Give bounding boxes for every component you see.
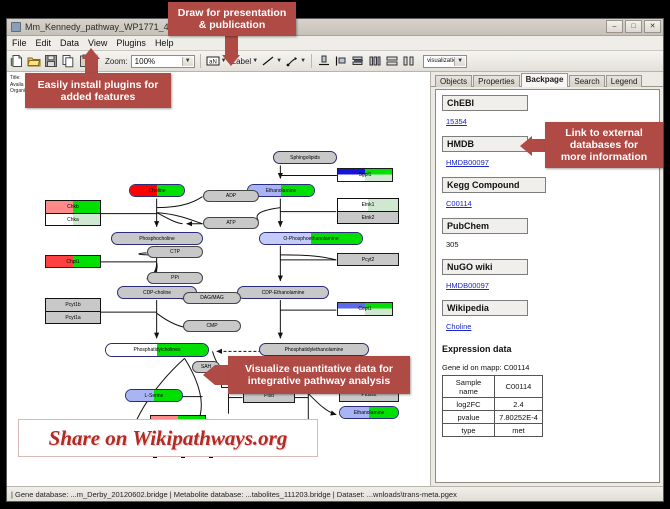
node-label: O-Phosphoethanolamine: [283, 236, 338, 242]
node-choline[interactable]: Choline: [129, 184, 185, 197]
node-ctp[interactable]: CTP: [147, 246, 203, 258]
node-label: CMP: [206, 323, 217, 329]
callout-draw-line2: & publication: [199, 19, 266, 31]
callout-links-line2: databases for: [570, 139, 638, 151]
callout-links-stem: [532, 139, 546, 152]
callout-draw-arrow: [222, 55, 240, 66]
backpage-link-nugo[interactable]: HMDB00097: [446, 281, 489, 290]
backpage-link-kegg[interactable]: C00114: [446, 199, 472, 208]
gene-label: Etnk1: [362, 202, 375, 208]
common-width-icon[interactable]: [385, 54, 399, 68]
callout-plugins-stem: [85, 58, 98, 74]
menu-item-help[interactable]: Help: [155, 38, 174, 48]
gene-box-etnk[interactable]: Etnk1 Etnk2: [337, 198, 399, 224]
node-label: Sphingolipids: [290, 155, 320, 161]
node-label: Ethanolamine: [266, 188, 297, 194]
status-bar: | Gene database: ...m_Derby_20120602.bri…: [7, 486, 663, 501]
table-row: type met: [443, 424, 543, 437]
minimize-button[interactable]: –: [606, 20, 623, 33]
align-left-icon[interactable]: [334, 54, 348, 68]
tab-objects[interactable]: Objects: [435, 75, 472, 87]
side-panel-tabs: Objects Properties Backpage Search Legen…: [431, 72, 663, 87]
node-label: Choline: [149, 188, 166, 194]
pathway-organism-label: Organi: [10, 88, 25, 95]
gene-box-cept1[interactable]: Cept1: [337, 302, 393, 316]
line-icon[interactable]: [261, 54, 275, 68]
toolbar-separator-2: [200, 54, 201, 68]
node-adp[interactable]: ADP: [203, 190, 259, 202]
callout-draw-stem: [225, 36, 238, 56]
backpage-heading-wikipedia: Wikipedia: [442, 300, 528, 316]
cell-value: 7.80252E-4: [495, 411, 543, 424]
gene-etnk2[interactable]: Etnk2: [338, 211, 398, 223]
maximize-button[interactable]: □: [625, 20, 642, 33]
gene-label: Sgpl1: [359, 172, 372, 178]
node-label: L-Serine: [145, 393, 164, 399]
callout-visualize: Visualize quantitative data for integrat…: [228, 356, 410, 394]
backpage-heading-pubchem: PubChem: [442, 218, 528, 234]
gene-box-pcyt2[interactable]: Pcyt2: [337, 253, 399, 266]
app-icon: [11, 22, 21, 32]
node-atp[interactable]: ATP: [203, 217, 259, 229]
menu-item-view[interactable]: View: [88, 38, 107, 48]
expression-data-title: Expression data: [442, 344, 653, 354]
stack-vertical-icon[interactable]: [351, 54, 365, 68]
node-dagmag[interactable]: DAG/MAG: [183, 292, 241, 304]
copy-icon[interactable]: [61, 54, 75, 68]
callout-links-arrow: [520, 136, 532, 156]
distribute-horizontal-icon[interactable]: [368, 54, 382, 68]
datanode-icon[interactable]: aN: [206, 54, 220, 68]
gene-label: Cept1: [358, 306, 371, 312]
interaction-tool[interactable]: ▼: [285, 54, 306, 68]
chevron-down-icon[interactable]: ▼: [182, 57, 193, 66]
gene-pcyt1a[interactable]: Pcyt1a: [46, 311, 100, 323]
gene-pcyt1b[interactable]: Pcyt1b: [46, 299, 100, 311]
node-l-serine-left[interactable]: L-Serine: [125, 389, 183, 402]
node-cdp-ethanolamine[interactable]: CDP-Ethanolamine: [237, 286, 329, 299]
cell-key: log2FC: [443, 398, 495, 411]
cell-value: met: [495, 424, 543, 437]
svg-text:aN: aN: [209, 60, 217, 66]
chevron-down-icon[interactable]: ▼: [454, 57, 465, 66]
gene-label: Chka: [67, 217, 79, 223]
table-row: pvalue 7.80252E-4: [443, 411, 543, 424]
cell-key: pvalue: [443, 411, 495, 424]
callout-plugins: Easily install plugins for added feature…: [25, 73, 171, 108]
menu-item-edit[interactable]: Edit: [36, 38, 52, 48]
node-label: CDP-Ethanolamine: [262, 290, 305, 296]
node-label: Phosphocholine: [139, 236, 175, 242]
callout-share-text: Share on Wikipathways.org: [49, 426, 288, 451]
zoom-value: 100%: [135, 57, 155, 66]
interaction-icon[interactable]: [285, 54, 299, 68]
gene-box-sgpl1[interactable]: Sgpl1: [337, 168, 393, 182]
callout-draw-line1: Draw for presentation: [178, 7, 287, 19]
menu-item-plugins[interactable]: Plugins: [116, 38, 146, 48]
backpage-value-pubchem: 305: [446, 240, 459, 249]
callout-share: Share on Wikipathways.org: [18, 419, 318, 457]
node-cmp[interactable]: CMP: [183, 320, 241, 332]
callout-links-line1: Link to external: [565, 127, 643, 139]
callout-links-line3: more information: [561, 151, 647, 163]
gene-box-chk[interactable]: Chkb Chka: [45, 200, 101, 226]
backpage-heading-chebi: ChEBI: [442, 95, 528, 111]
callout-plugins-line2: added features: [61, 91, 136, 103]
backpage-heading-kegg: Kegg Compound: [442, 177, 546, 193]
tab-legend[interactable]: Legend: [606, 75, 643, 87]
gene-label: Pcyt2: [362, 257, 375, 263]
pathway-info-block: Title: Availa Organi: [10, 75, 25, 95]
gene-chka[interactable]: Chka: [46, 213, 100, 225]
callout-plugins-arrow: [82, 48, 100, 59]
chevron-down-icon[interactable]: ▼: [252, 58, 258, 64]
node-phosphatidylethanolamine[interactable]: Phosphatidylethanolamine: [259, 343, 369, 356]
gene-label: Etnk2: [362, 215, 375, 221]
chevron-down-icon[interactable]: ▼: [300, 58, 306, 64]
toolbar: Zoom: 100% ▼ aN ▼ Label▼ ▼ ▼ visualizati…: [7, 51, 663, 72]
menu-bar: File Edit Data View Plugins Help: [7, 36, 663, 51]
gene-etnk1[interactable]: Etnk1: [338, 199, 398, 211]
node-label: CTP: [170, 249, 180, 255]
callout-visualize-line1: Visualize quantitative data for: [245, 363, 393, 375]
node-ethanolamine-2[interactable]: Ethanolamine: [339, 406, 399, 419]
callout-plugins-line1: Easily install plugins for: [38, 79, 159, 91]
gene-box-chpt1[interactable]: Chpt1: [45, 255, 101, 268]
status-text: | Gene database: ...m_Derby_20120602.bri…: [11, 490, 457, 499]
table-row: Sample name C00114: [443, 376, 543, 398]
new-file-icon[interactable]: [10, 54, 24, 68]
line-tool[interactable]: ▼: [261, 54, 282, 68]
backpage-heading-hmdb: HMDB: [442, 136, 528, 152]
save-icon[interactable]: [44, 54, 58, 68]
backpage-heading-nugo: NuGO wiki: [442, 259, 528, 275]
gene-label: Pcyt1b: [65, 302, 80, 308]
callout-visualize-stem: [215, 365, 229, 385]
gene-id-line: Gene id on mapp: C00114: [442, 363, 653, 372]
open-folder-icon[interactable]: [27, 54, 41, 68]
callout-draw: Draw for presentation & publication: [168, 2, 296, 36]
node-ppi[interactable]: PPi: [147, 272, 203, 284]
gene-chkb[interactable]: Chkb: [46, 201, 100, 213]
zoom-label: Zoom:: [105, 57, 128, 66]
node-phosphatidylcholines[interactable]: Phosphatidylcholines: [105, 343, 209, 357]
tab-search[interactable]: Search: [569, 75, 604, 87]
cell-key: type: [443, 424, 495, 437]
node-label: DAG/MAG: [200, 295, 224, 301]
cell-value: C00114: [495, 376, 543, 398]
callout-links: Link to external databases for more info…: [545, 122, 663, 168]
tab-backpage[interactable]: Backpage: [521, 73, 569, 87]
tab-properties[interactable]: Properties: [473, 75, 519, 87]
window-controls: – □ ✕: [606, 20, 661, 33]
gene-label: Chkb: [67, 204, 79, 210]
node-label: Phosphatidylethanolamine: [285, 347, 344, 353]
node-label: Phosphatidylcholines: [134, 347, 181, 353]
node-label: Ethanolamine: [354, 410, 385, 416]
node-phosphocholine[interactable]: Phosphocholine: [111, 232, 203, 245]
node-label: ADP: [226, 193, 236, 199]
chevron-down-icon[interactable]: ▼: [276, 58, 282, 64]
callout-visualize-arrow: [203, 365, 215, 385]
align-bottom-icon[interactable]: [317, 54, 331, 68]
menu-item-file[interactable]: File: [12, 38, 27, 48]
cell-value: 2.4: [495, 398, 543, 411]
node-label: ATP: [226, 220, 235, 226]
close-button[interactable]: ✕: [644, 20, 661, 33]
table-row: log2FC 2.4: [443, 398, 543, 411]
gene-label: Pcyt1a: [65, 315, 80, 321]
backpage-link-chebi[interactable]: 15354: [446, 117, 467, 126]
gene-label: Chpt1: [66, 259, 79, 265]
node-label: CDP-choline: [143, 290, 171, 296]
menu-item-data[interactable]: Data: [60, 38, 79, 48]
node-label: PPi: [171, 275, 179, 281]
callout-visualize-line2: integrative pathway analysis: [248, 375, 390, 387]
node-sphingolipids[interactable]: Sphingolipids: [273, 151, 337, 164]
zoom-combo[interactable]: 100% ▼: [131, 55, 195, 68]
gene-box-pcyt1[interactable]: Pcyt1b Pcyt1a: [45, 298, 101, 324]
common-height-icon[interactable]: [402, 54, 416, 68]
visualization-combo[interactable]: visualization ▼: [423, 55, 467, 68]
title-bar: Mm_Kennedy_pathway_WP1771_45176.gpml – □…: [7, 19, 663, 36]
node-o-phosphoethanolamine[interactable]: O-Phosphoethanolamine: [259, 232, 363, 245]
toolbar-separator-3: [311, 54, 312, 68]
expression-table: Sample name C00114 log2FC 2.4 pvalue 7.8…: [442, 375, 543, 437]
backpage-link-wikipedia[interactable]: Choline: [446, 322, 471, 331]
backpage-link-hmdb[interactable]: HMDB00097: [446, 158, 489, 167]
cell-key: Sample name: [443, 376, 495, 398]
